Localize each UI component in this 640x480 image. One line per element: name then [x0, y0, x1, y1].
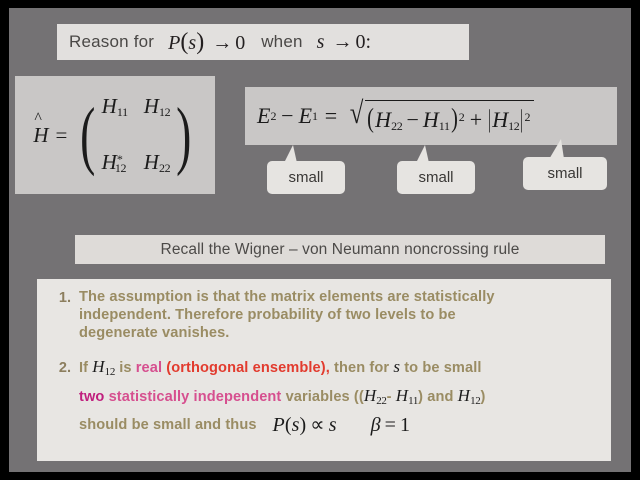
title-limit: s →0:: [317, 31, 371, 54]
matrix-cell-12-symbol: H: [144, 94, 159, 118]
line2-variables: variables: [286, 388, 350, 406]
line1-paren-close: ),: [321, 359, 330, 377]
matrix-entries: H11 H12 H*12 H22: [102, 94, 171, 176]
slide-title-bar: Reason for P(s) →0 when s →0:: [57, 24, 469, 60]
callout-tail-icon-2: [411, 145, 433, 167]
title-p-symbol: P: [168, 32, 180, 54]
line3-paren-close: ): [300, 414, 307, 436]
energy-splitting-equation-panel: E2 − E1 = √ (H22−H11)2+|H12|2: [245, 87, 617, 145]
wigner-von-neumann-heading: Recall the Wigner – von Neumann noncross…: [75, 235, 605, 264]
line3-p-symbol: P: [273, 414, 285, 436]
title-zero-1: 0: [235, 32, 245, 54]
line3-equals: =: [385, 414, 396, 436]
line2-statistically-independent: statistically independent: [109, 388, 282, 406]
line1-h12-sub: 12: [105, 366, 115, 378]
title-arrow-1: →: [212, 32, 232, 54]
list-item-number-2: 2.: [45, 358, 79, 434]
callout-small-label-3: small: [547, 165, 582, 182]
eq-h12: H: [492, 107, 508, 132]
list-item-1-line-1: The assumption is that the matrix elemen…: [79, 288, 601, 306]
title-s-symbol-2: s: [317, 31, 325, 53]
line2-two-keyword: two: [79, 388, 104, 406]
line3-s-inner: s: [292, 414, 300, 436]
title-zero-2: 0: [355, 31, 365, 53]
matrix-cell-11-sub: 11: [117, 105, 128, 119]
line2-and: and: [427, 388, 453, 406]
eq-radical: √ (H22−H11)2+|H12|2: [348, 99, 533, 134]
eq-inner-minus: −: [406, 107, 418, 132]
line1-real-keyword: real: [136, 359, 162, 377]
matrix-cell-11: H11: [102, 94, 128, 120]
callout-small-label-2: small: [418, 169, 453, 186]
line2-h11-symbol: H: [396, 386, 408, 405]
matrix-expression: H = ( H11 H12 H*12 H22 ): [33, 94, 196, 176]
line2-h11-sub: 11: [408, 395, 418, 407]
list-item-2-line-2: two statistically independent variables …: [79, 387, 601, 410]
matrix-cell-12: H12: [144, 94, 171, 120]
line3-beta-symbol: β: [371, 414, 381, 436]
eq-h11-sub: 11: [439, 119, 450, 133]
matrix-cell-21-sub: 12: [115, 161, 126, 175]
matrix-cell-22-sub: 22: [159, 161, 170, 175]
callout-small-label-1: small: [288, 169, 323, 186]
list-item-body-2: If H12 is real (orthogonal ensemble), th…: [79, 358, 601, 434]
line2-h22-sub: 22: [376, 395, 386, 407]
list-item-number-1: 1.: [45, 288, 79, 342]
line2-h11: H11: [396, 387, 418, 410]
line2-paren-open: ((: [354, 388, 364, 406]
line2-paren-close: ): [418, 388, 423, 406]
eq-h11: H: [423, 107, 439, 132]
line2-h12-symbol: H: [458, 386, 470, 405]
line3-s-symbol: s: [329, 414, 337, 436]
list-item-1-line-2: independent. Therefore probability of tw…: [79, 306, 601, 324]
hamiltonian-matrix-panel: H = ( H11 H12 H*12 H22 ): [15, 76, 215, 194]
list-item: 1. The assumption is that the matrix ele…: [45, 288, 601, 342]
title-expression: P(s) →0: [168, 29, 245, 56]
line1-h12-symbol: H: [92, 357, 104, 376]
eq-square-2: 2: [525, 110, 531, 124]
title-paren-close: ): [196, 29, 204, 55]
eq-h22-sub: 22: [391, 119, 402, 133]
list-item-body-1: The assumption is that the matrix elemen…: [79, 288, 601, 342]
eq-h12-sub: 12: [508, 119, 519, 133]
line2-dash: -: [387, 388, 392, 406]
matrix-cell-22-symbol: H: [144, 150, 159, 174]
matrix-cell-12-sub: 12: [159, 105, 170, 119]
matrix-cell-22: H22: [144, 150, 171, 176]
slide-canvas: Reason for P(s) →0 when s →0: H = ( H11 …: [9, 8, 631, 472]
energy-splitting-equation: E2 − E1 = √ (H22−H11)2+|H12|2: [257, 99, 534, 134]
matrix-equals: =: [55, 123, 67, 148]
line1-if: If: [79, 359, 88, 377]
eq-e2: E: [257, 103, 270, 129]
line3-beta-equation: β=1: [371, 416, 411, 434]
eq-radicand: (H22−H11)2+|H12|2: [365, 100, 533, 134]
line1-is: is: [119, 359, 131, 377]
line2-h12-sub: 12: [470, 395, 480, 407]
matrix-cell-11-symbol: H: [102, 94, 117, 118]
matrix-cell-21: H*12: [102, 150, 128, 176]
eq-h22: H: [375, 107, 391, 132]
title-prefix: Reason for: [69, 32, 154, 52]
title-when: when: [261, 32, 302, 52]
line3-should-be-small: should be small and thus: [79, 416, 257, 434]
line2-paren-close-2: ): [480, 388, 485, 406]
line3-paren-open: (: [285, 414, 292, 436]
eq-square-1: 2: [459, 110, 465, 124]
eq-e1: E: [299, 103, 312, 129]
callout-small-1: small: [267, 161, 345, 194]
eq-bar-close: |: [520, 106, 523, 134]
eq-e2-sub: 2: [270, 109, 276, 124]
eq-e1-sub: 1: [312, 109, 318, 124]
line1-then-for: then for: [334, 359, 389, 377]
lecture-slide: Reason for P(s) →0 when s →0: H = ( H11 …: [0, 0, 640, 480]
eq-bar-open: |: [488, 106, 491, 134]
title-arrow-2: →: [332, 31, 352, 53]
list-item-2-line-1: If H12 is real (orthogonal ensemble), th…: [79, 358, 601, 381]
list-item-2-line-3: should be small and thus P(s)∝s β=1: [79, 416, 601, 434]
line2-h12: H12: [458, 387, 481, 410]
eq-paren-close: ): [451, 103, 458, 134]
line1-s-symbol: s: [393, 358, 400, 376]
list-item-1-line-3: degenerate vanishes.: [79, 324, 601, 342]
line1-orthogonal-ensemble: orthogonal ensemble: [171, 359, 320, 377]
line1-h12: H12: [92, 358, 115, 381]
eq-plus: +: [470, 107, 482, 132]
line2-h22: H22: [364, 387, 387, 410]
callout-small-3: small: [523, 157, 607, 190]
line1-to-be-small: to be small: [404, 359, 481, 377]
title-colon: :: [365, 31, 371, 53]
callout-tail-icon-1: [279, 145, 301, 167]
line3-proportional-sign: ∝: [310, 414, 324, 436]
list-item: 2. If H12 is real (orthogonal ensemble),…: [45, 358, 601, 434]
eq-radical-symbol: √: [350, 99, 364, 134]
line3-ps-prop-s: P(s)∝s: [273, 416, 337, 434]
notes-list-panel: 1. The assumption is that the matrix ele…: [37, 279, 611, 461]
matrix-lhs-symbol: H: [33, 123, 48, 148]
eq-minus: −: [281, 103, 293, 129]
line2-h22-symbol: H: [364, 386, 376, 405]
callout-tail-icon-3: [545, 139, 569, 163]
eq-paren-open: (: [367, 103, 374, 134]
wigner-heading-text: Recall the Wigner – von Neumann noncross…: [161, 241, 520, 259]
eq-equals: =: [325, 103, 337, 129]
line3-one: 1: [400, 414, 410, 436]
callout-small-2: small: [397, 161, 475, 194]
